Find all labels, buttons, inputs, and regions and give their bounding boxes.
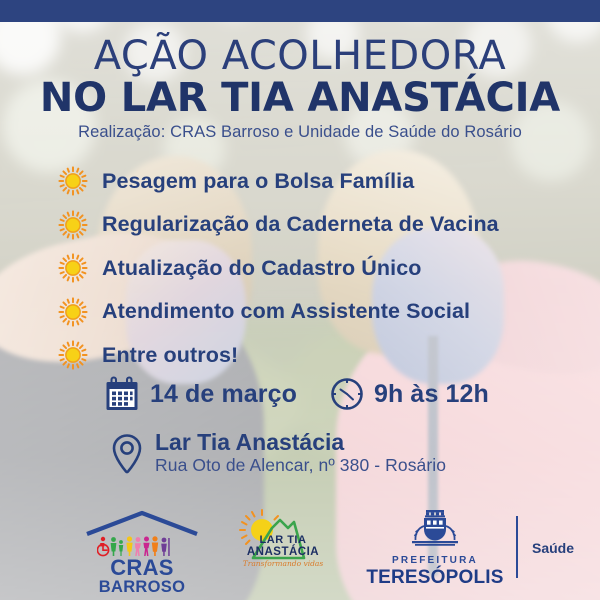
clock-icon [329, 376, 365, 412]
list-item: Pesagem para o Bolsa Família [58, 162, 568, 200]
location-text-group: Lar Tia Anastácia Rua Oto de Alencar, nº… [155, 430, 446, 476]
list-item-label: Atendimento com Assistente Social [102, 299, 470, 324]
event-time: 9h às 12h [374, 380, 489, 409]
sun-icon [58, 253, 88, 283]
house-roof-icon [83, 510, 201, 536]
list-item: Atendimento com Assistente Social [58, 293, 568, 331]
location-row: Lar Tia Anastácia Rua Oto de Alencar, nº… [110, 430, 446, 476]
cras-barroso-logo: CRAS BARROSO [78, 510, 206, 596]
schedule-row: 14 de março 9h às 12h [104, 376, 489, 412]
sun-icon [58, 340, 88, 370]
list-item: Entre outros! [58, 336, 568, 374]
list-item-label: Regularização da Caderneta de Vacina [102, 212, 499, 237]
prefeitura-teresopolis-logo: PREFEITURA TERESÓPOLIS [360, 508, 510, 588]
poster-content: AÇÃO ACOLHEDORA NO LAR TIA ANASTÁCIA Rea… [0, 0, 600, 600]
list-item-label: Atualização do Cadastro Único [102, 256, 421, 281]
secretaria-label: Saúde [532, 540, 574, 556]
lar-logo-line-1: LAR TIA [228, 534, 338, 546]
map-pin-icon [110, 433, 144, 473]
top-accent-bar [0, 0, 600, 22]
logo-divider [516, 516, 518, 578]
header-block: AÇÃO ACOLHEDORA NO LAR TIA ANASTÁCIA Rea… [0, 36, 600, 142]
list-item-label: Entre outros! [102, 343, 238, 368]
sun-icon [58, 210, 88, 240]
page-title-line-1: AÇÃO ACOLHEDORA [0, 36, 600, 76]
location-name: Lar Tia Anastácia [155, 430, 446, 455]
list-item-label: Pesagem para o Bolsa Família [102, 169, 414, 194]
coat-of-arms-icon [406, 508, 464, 554]
people-figures-icon [78, 533, 206, 557]
lar-logo-line-2: ANASTÁCIA [228, 546, 338, 559]
calendar-icon [104, 376, 140, 412]
sun-and-mountain-icon: LAR TIA ANASTÁCIA Transformando vidas [228, 508, 338, 560]
cras-logo-line-2: BARROSO [78, 578, 206, 596]
lar-tia-anastacia-logo: LAR TIA ANASTÁCIA Transformando vidas [228, 508, 338, 560]
event-date: 14 de março [150, 380, 297, 409]
poster-canvas: AÇÃO ACOLHEDORA NO LAR TIA ANASTÁCIA Rea… [0, 0, 600, 600]
page-subtitle: Realização: CRAS Barroso e Unidade de Sa… [0, 123, 600, 142]
list-item: Atualização do Cadastro Único [58, 249, 568, 287]
lar-logo-tagline: Transformando vidas [228, 559, 338, 569]
location-address: Rua Oto de Alencar, nº 380 - Rosário [155, 455, 446, 476]
list-item: Regularização da Caderneta de Vacina [58, 206, 568, 244]
services-list: Pesagem para o Bolsa Família [58, 162, 568, 380]
footer-logo-bar: CRAS BARROSO [0, 504, 600, 594]
prefeitura-logo-line-1: PREFEITURA [360, 554, 510, 567]
page-title-line-2: NO LAR TIA ANASTÁCIA [0, 76, 600, 120]
cras-logo-line-1: CRAS [78, 557, 206, 578]
sun-icon [58, 166, 88, 196]
prefeitura-logo-line-2: TERESÓPOLIS [360, 567, 510, 588]
sun-icon [58, 297, 88, 327]
